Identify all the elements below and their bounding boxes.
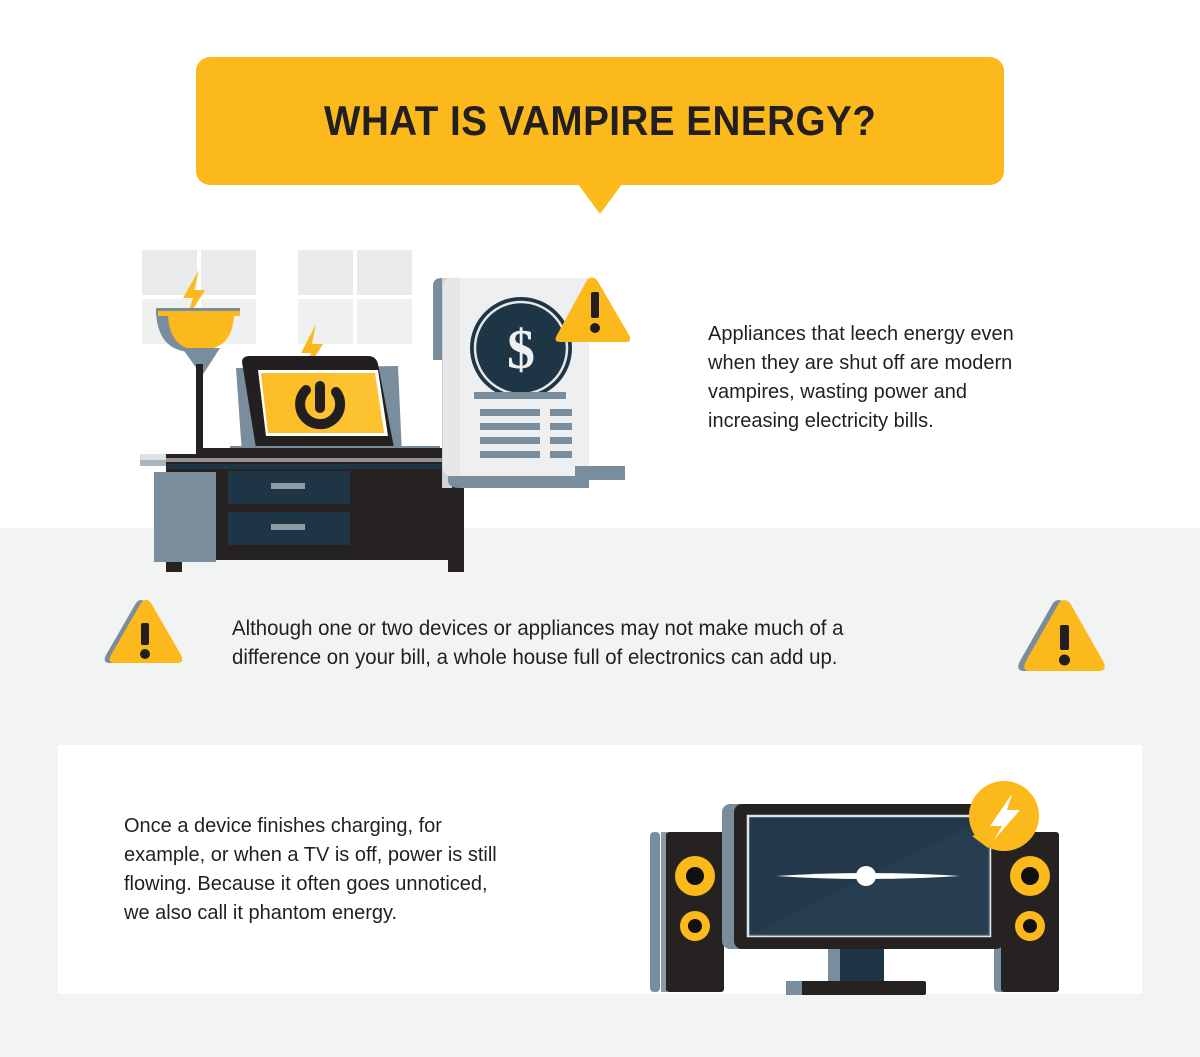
intro-paragraph: Appliances that leech energy even when t…	[708, 320, 1098, 436]
television-illustration	[640, 778, 1080, 1000]
page-title: WHAT IS VAMPIRE ENERGY?	[324, 97, 876, 145]
desk-lamp	[156, 308, 240, 456]
desk-with-drawers	[140, 448, 470, 572]
speech-bubble-icon	[969, 781, 1039, 851]
warning-triangle-right	[1015, 597, 1105, 675]
phantom-paragraph: Once a device finishes charging, for exa…	[124, 812, 524, 928]
scale-paragraph: Although one or two devices or appliance…	[232, 614, 952, 672]
dollar-sign-icon: $	[470, 297, 572, 399]
title-banner: WHAT IS VAMPIRE ENERGY?	[196, 57, 1004, 185]
flat-screen-tv	[722, 804, 1004, 995]
laptop	[230, 356, 444, 458]
desk-illustration: $	[130, 240, 630, 572]
svg-text:$: $	[507, 319, 535, 381]
banner-tail-pointer	[578, 184, 622, 214]
infographic-page: WHAT IS VAMPIRE ENERGY?	[0, 0, 1200, 1057]
left-speaker	[650, 832, 724, 992]
warning-triangle-left	[102, 597, 182, 667]
